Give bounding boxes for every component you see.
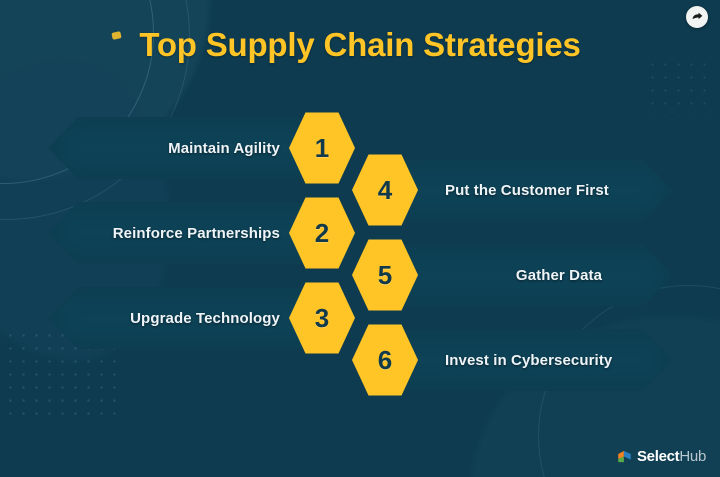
strategy-number-6: 6 <box>378 347 392 373</box>
strategy-number-2: 2 <box>315 220 329 246</box>
strategy-number-4: 4 <box>378 177 392 203</box>
decorative-dot-grid-top-right <box>646 58 712 116</box>
strategy-label-1: Maintain Agility <box>48 117 280 179</box>
strategy-label-5: Gather Data <box>445 244 673 306</box>
share-arrow-icon <box>691 11 704 24</box>
logo-primary-text: Select <box>637 448 679 465</box>
infographic-canvas: Top Supply Chain Strategies Maintain Agi… <box>0 0 720 477</box>
save-share-button[interactable] <box>686 6 708 28</box>
logo-secondary-text: Hub <box>679 448 706 465</box>
strategy-row-6: Invest in Cybersecurity <box>383 329 673 391</box>
strategy-number-1: 1 <box>315 135 329 161</box>
selecthub-logo-text: SelectHub <box>637 448 706 465</box>
selecthub-logo-mark-icon <box>617 449 632 464</box>
strategy-label-4: Put the Customer First <box>445 159 673 221</box>
strategy-row-5: Gather Data <box>383 244 673 306</box>
strategy-label-2: Reinforce Partnerships <box>48 202 280 264</box>
strategy-row-4: Put the Customer First <box>383 159 673 221</box>
strategy-label-6: Invest in Cybersecurity <box>445 329 673 391</box>
strategy-number-5: 5 <box>378 262 392 288</box>
strategy-number-3: 3 <box>315 305 329 331</box>
selecthub-logo[interactable]: SelectHub <box>617 448 706 465</box>
strategy-label-3: Upgrade Technology <box>48 287 280 349</box>
page-title: Top Supply Chain Strategies <box>0 26 720 64</box>
